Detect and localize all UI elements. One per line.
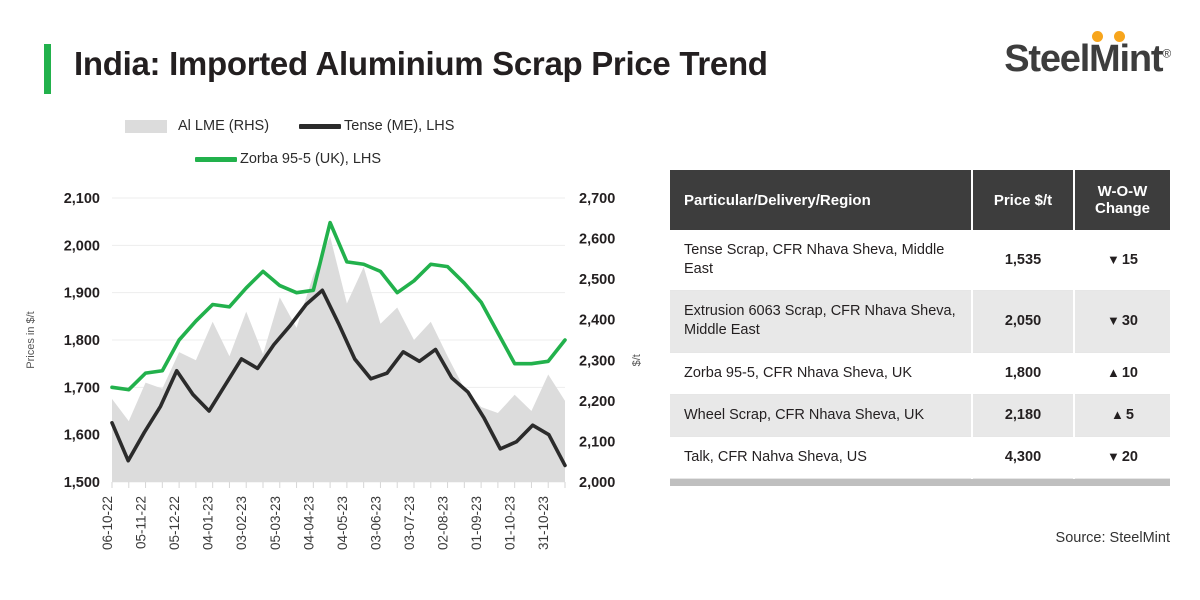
cell-price: 1,800 <box>972 352 1074 394</box>
cell-wow-change: ▲5 <box>1074 394 1170 436</box>
wow-change-value: 15 <box>1122 252 1138 268</box>
price-table-container: Particular/Delivery/Region Price $/t W-O… <box>670 170 1170 486</box>
svg-text:2,000: 2,000 <box>64 238 100 254</box>
svg-text:05-03-23: 05-03-23 <box>268 496 283 550</box>
svg-text:2,300: 2,300 <box>579 353 615 369</box>
svg-text:2,400: 2,400 <box>579 313 615 329</box>
svg-text:05-11-22: 05-11-22 <box>134 496 149 549</box>
legend-swatch-area-icon <box>125 120 167 133</box>
cell-particular: Tense Scrap, CFR Nhava Sheva, Middle Eas… <box>670 230 972 291</box>
svg-text:03-02-23: 03-02-23 <box>234 496 249 550</box>
logo-text: SteelMint <box>1004 38 1162 80</box>
table-row[interactable]: Extrusion 6063 Scrap, CFR Nhava Sheva, M… <box>670 291 1170 352</box>
cell-price: 2,180 <box>972 394 1074 436</box>
right-axis-labels: 2,0002,1002,2002,3002,4002,5002,6002,700 <box>579 191 615 491</box>
arrow-up-icon: ▲ <box>1111 407 1124 422</box>
cell-particular: Talk, CFR Nahva Sheva, US <box>670 436 972 478</box>
legend-row-bottom: Zorba 95-5 (UK), LHS <box>195 151 411 167</box>
table-row[interactable]: Tense Scrap, CFR Nhava Sheva, Middle Eas… <box>670 230 1170 291</box>
logo-dot-right-icon <box>1114 31 1125 42</box>
chart-legend: Al LME (RHS) Tense (ME), LHS Zorba 95-5 … <box>110 118 580 178</box>
table-row[interactable]: Talk, CFR Nahva Sheva, US4,300▼20 <box>670 436 1170 478</box>
svg-text:1,600: 1,600 <box>64 428 100 444</box>
legend-item-zorba[interactable]: Zorba 95-5 (UK), LHS <box>195 151 381 167</box>
chart-tickmarks <box>112 482 565 488</box>
source-credit: Source: SteelMint <box>1056 530 1170 546</box>
svg-text:31-10-23: 31-10-23 <box>536 496 551 550</box>
cell-wow-change: ▼20 <box>1074 436 1170 478</box>
svg-text:1,900: 1,900 <box>64 286 100 302</box>
steelmint-logo: SteelMint® <box>1004 38 1170 81</box>
price-table: Particular/Delivery/Region Price $/t W-O… <box>670 170 1170 479</box>
cell-wow-change: ▼30 <box>1074 291 1170 352</box>
table-row[interactable]: Zorba 95-5, CFR Nhava Sheva, UK1,800▲10 <box>670 352 1170 394</box>
registered-trademark-icon: ® <box>1162 46 1170 60</box>
header: India: Imported Aluminium Scrap Price Tr… <box>0 0 1200 110</box>
logo-dot-left-icon <box>1092 31 1103 42</box>
svg-text:2,200: 2,200 <box>579 394 615 410</box>
svg-text:2,100: 2,100 <box>64 191 100 207</box>
legend-label-tense: Tense (ME), LHS <box>344 118 454 134</box>
chart-svg: 1,5001,6001,7001,8001,9002,0002,100 2,00… <box>0 180 660 580</box>
table-body: Tense Scrap, CFR Nhava Sheva, Middle Eas… <box>670 230 1170 478</box>
wow-change-value: 10 <box>1122 365 1138 381</box>
svg-text:1,800: 1,800 <box>64 333 100 349</box>
price-trend-chart: 1,5001,6001,7001,8001,9002,0002,100 2,00… <box>0 180 660 580</box>
svg-text:04-01-23: 04-01-23 <box>201 496 216 550</box>
svg-text:01-09-23: 01-09-23 <box>469 496 484 550</box>
svg-text:$/t: $/t <box>631 354 643 366</box>
svg-text:02-08-23: 02-08-23 <box>436 496 451 550</box>
svg-text:06-10-22: 06-10-22 <box>100 496 115 550</box>
cell-particular: Zorba 95-5, CFR Nhava Sheva, UK <box>670 352 972 394</box>
arrow-down-icon: ▼ <box>1107 313 1120 328</box>
arrow-down-icon: ▼ <box>1107 449 1120 464</box>
table-row[interactable]: Wheel Scrap, CFR Nhava Sheva, UK2,180▲5 <box>670 394 1170 436</box>
title-accent-bar <box>44 44 51 94</box>
x-axis-labels: 06-10-2205-11-2205-12-2204-01-2303-02-23… <box>100 496 551 550</box>
svg-text:2,700: 2,700 <box>579 191 615 207</box>
legend-swatch-line-black-icon <box>299 124 341 129</box>
cell-particular: Extrusion 6063 Scrap, CFR Nhava Sheva, M… <box>670 291 972 352</box>
left-axis-labels: 1,5001,6001,7001,8001,9002,0002,100 <box>64 191 100 491</box>
svg-text:2,600: 2,600 <box>579 232 615 248</box>
svg-text:04-04-23: 04-04-23 <box>301 496 316 550</box>
infographic-page: India: Imported Aluminium Scrap Price Tr… <box>0 0 1200 600</box>
cell-price: 4,300 <box>972 436 1074 478</box>
cell-particular: Wheel Scrap, CFR Nhava Sheva, UK <box>670 394 972 436</box>
svg-text:1,500: 1,500 <box>64 475 100 491</box>
svg-text:05-12-22: 05-12-22 <box>167 496 182 550</box>
legend-swatch-line-green-icon <box>195 157 237 162</box>
column-header-particular: Particular/Delivery/Region <box>670 170 972 230</box>
svg-text:04-05-23: 04-05-23 <box>335 496 350 550</box>
legend-item-tense[interactable]: Tense (ME), LHS <box>299 118 454 134</box>
cell-wow-change: ▼15 <box>1074 230 1170 291</box>
wow-change-value: 30 <box>1122 313 1138 329</box>
column-header-price: Price $/t <box>972 170 1074 230</box>
legend-label-al-lme: Al LME (RHS) <box>178 118 269 134</box>
column-header-wow-change: W-O-W Change <box>1074 170 1170 230</box>
svg-text:03-07-23: 03-07-23 <box>402 496 417 550</box>
table-bottom-bar <box>670 479 1170 486</box>
svg-text:2,500: 2,500 <box>579 272 615 288</box>
wow-change-value: 20 <box>1122 449 1138 465</box>
cell-price: 1,535 <box>972 230 1074 291</box>
page-title: India: Imported Aluminium Scrap Price Tr… <box>74 45 768 83</box>
cell-price: 2,050 <box>972 291 1074 352</box>
legend-row-top: Al LME (RHS) Tense (ME), LHS <box>125 118 484 134</box>
svg-text:01-10-23: 01-10-23 <box>503 496 518 550</box>
svg-text:2,000: 2,000 <box>579 475 615 491</box>
svg-text:03-06-23: 03-06-23 <box>368 496 383 550</box>
cell-wow-change: ▲10 <box>1074 352 1170 394</box>
legend-label-zorba: Zorba 95-5 (UK), LHS <box>240 151 381 167</box>
wow-change-value: 5 <box>1126 407 1134 423</box>
legend-item-al-lme[interactable]: Al LME (RHS) <box>125 118 269 134</box>
svg-text:1,700: 1,700 <box>64 380 100 396</box>
arrow-down-icon: ▼ <box>1107 252 1120 267</box>
arrow-up-icon: ▲ <box>1107 365 1120 380</box>
svg-text:2,100: 2,100 <box>579 434 615 450</box>
table-header-row: Particular/Delivery/Region Price $/t W-O… <box>670 170 1170 230</box>
svg-text:Prices in $/t: Prices in $/t <box>25 311 37 368</box>
table-head: Particular/Delivery/Region Price $/t W-O… <box>670 170 1170 230</box>
